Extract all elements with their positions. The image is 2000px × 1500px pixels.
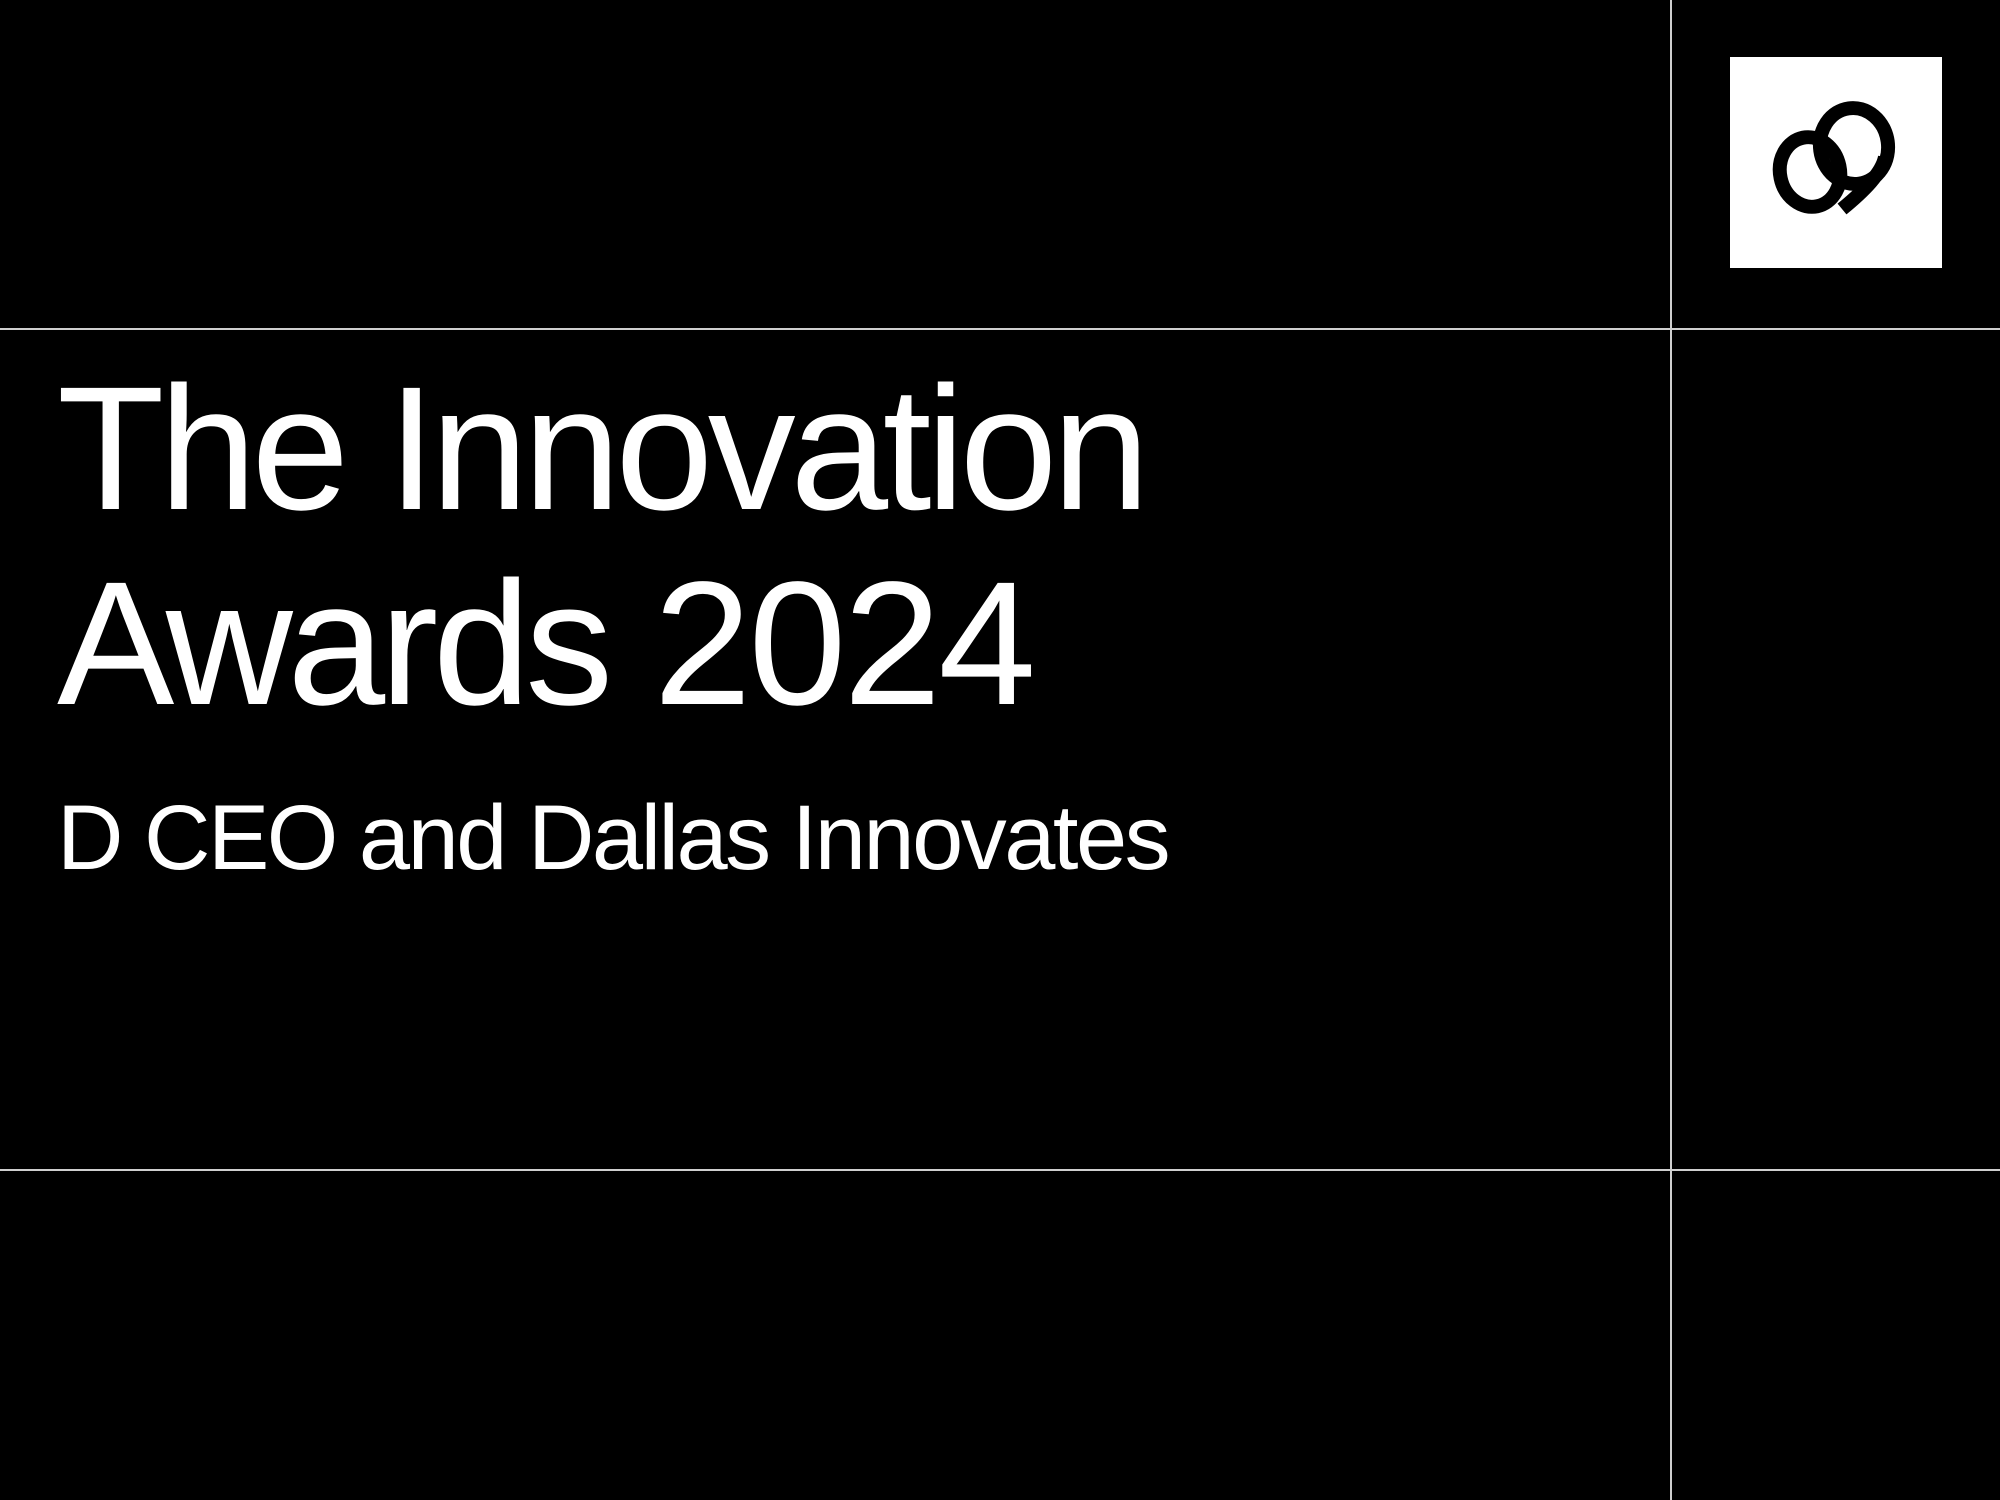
horizontal-rule-bottom <box>0 1169 2000 1171</box>
title-card: The Innovation Awards2024 D CEO and Dall… <box>0 0 2000 1500</box>
headline-awards-word: Awards <box>57 546 608 742</box>
o9-logo-tile <box>1730 57 1942 268</box>
horizontal-rule-top <box>0 328 2000 330</box>
vertical-rule <box>1670 0 1672 1500</box>
headline-line-1: The Innovation <box>57 352 1617 547</box>
headline-line-2: Awards2024 <box>57 547 1617 742</box>
headline-block: The Innovation Awards2024 D CEO and Dall… <box>57 352 1617 888</box>
subtitle: D CEO and Dallas Innovates <box>57 788 1617 888</box>
headline-year: 2024 <box>608 546 1033 742</box>
